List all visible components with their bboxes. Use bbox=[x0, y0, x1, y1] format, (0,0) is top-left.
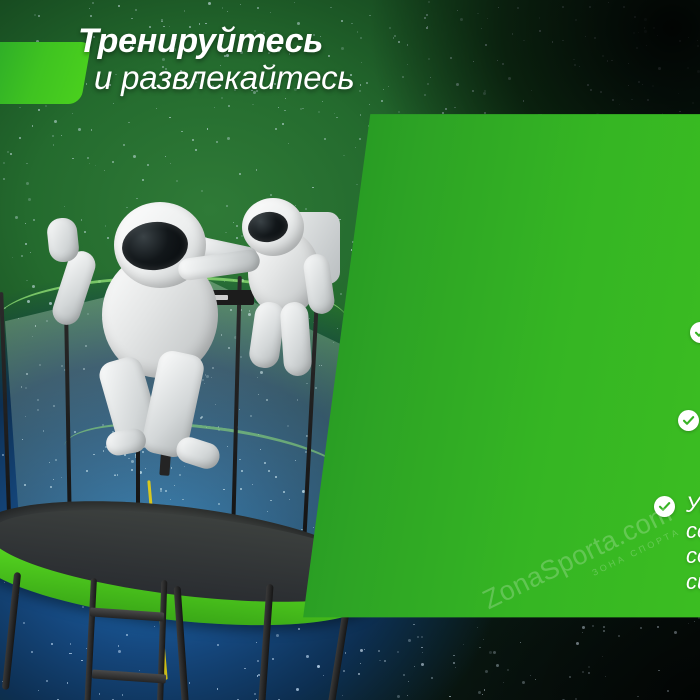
trampoline-leg bbox=[2, 572, 21, 690]
check-circle-icon bbox=[654, 496, 675, 517]
benefit-line: систему bbox=[686, 569, 700, 595]
list-item: Укрепляет сердечно-сосудистую систему bbox=[654, 492, 700, 595]
promo-banner: Тренируйтесь и развлекайтесь bbox=[0, 0, 700, 700]
benefit-line: сердечно-сосудистую bbox=[686, 518, 700, 569]
benefits-list: Повышает выносливость Способствует сниже… bbox=[280, 0, 700, 700]
astronaut-boot bbox=[173, 434, 223, 472]
list-item-text: Укрепляет сердечно-сосудистую систему bbox=[686, 492, 700, 595]
ladder-step bbox=[92, 669, 166, 683]
check-circle-icon bbox=[678, 410, 699, 431]
astronaut-boot bbox=[104, 427, 148, 458]
check-circle-icon bbox=[690, 322, 700, 343]
benefit-line: Укрепляет bbox=[686, 492, 700, 518]
astronaut-front bbox=[10, 192, 290, 512]
astronaut-hand-peace-sign bbox=[46, 217, 80, 264]
list-item: Улучшает координацию bbox=[690, 318, 700, 369]
